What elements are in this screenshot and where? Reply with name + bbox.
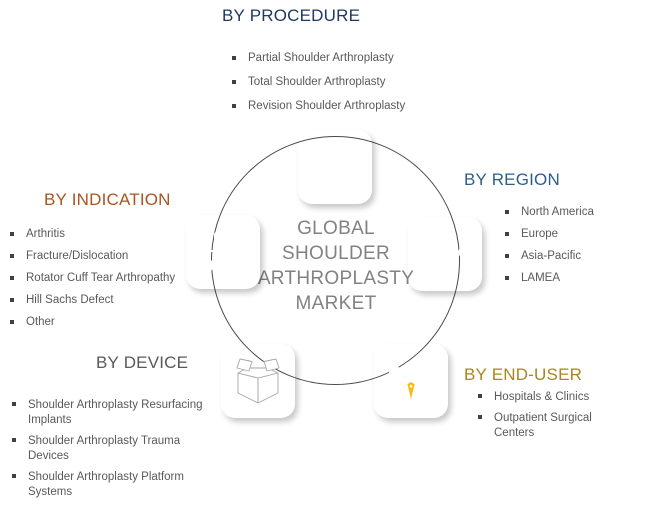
list-item: Fracture/Dislocation: [10, 250, 195, 263]
bullet-square-icon: [12, 474, 16, 478]
section-title-region: BY REGION: [464, 170, 560, 190]
list-item: Hill Sachs Defect: [10, 294, 195, 307]
list-item: Rotator Cuff Tear Arthropathy: [10, 272, 195, 285]
bullet-square-icon: [10, 320, 14, 324]
bullet-square-icon: [505, 232, 509, 236]
list-item: Outpatient Surgical Centers: [478, 411, 598, 441]
bullet-list-region: North AmericaEuropeAsia-PacificLAMEA: [505, 206, 640, 294]
list-item-label: North America: [521, 206, 594, 218]
bullet-square-icon: [505, 254, 509, 258]
list-item-label: Arthritis: [26, 228, 65, 240]
list-item-label: Hill Sachs Defect: [26, 294, 114, 306]
list-item: Revision Shoulder Arthroplasty: [232, 100, 442, 113]
market-segmentation-diagram: BY PROCEDURE Partial Shoulder Arthroplas…: [0, 0, 645, 517]
list-item: Partial Shoulder Arthroplasty: [232, 52, 442, 65]
list-item: Shoulder Arthroplasty Trauma Devices: [12, 434, 222, 464]
bullet-square-icon: [12, 438, 16, 442]
bullet-square-icon: [10, 276, 14, 280]
list-item-label: Asia-Pacific: [521, 250, 581, 262]
bullet-square-icon: [505, 210, 509, 214]
list-item-label: Rotator Cuff Tear Arthropathy: [26, 272, 175, 284]
list-item: LAMEA: [505, 272, 640, 285]
list-item-label: Hospitals & Clinics: [494, 391, 589, 403]
list-item-label: Other: [26, 316, 55, 328]
list-item-label: Total Shoulder Arthroplasty: [248, 76, 385, 88]
section-title-enduser: BY END-USER: [464, 365, 582, 385]
list-item: Asia-Pacific: [505, 250, 640, 263]
bullet-list-indication: ArthritisFracture/DislocationRotator Cuf…: [10, 228, 195, 338]
list-item: Total Shoulder Arthroplasty: [232, 76, 442, 89]
bullet-list-enduser: Hospitals & ClinicsOutpatient Surgical C…: [478, 390, 598, 447]
bullet-square-icon: [232, 80, 236, 84]
list-item-label: LAMEA: [521, 272, 560, 284]
section-title-device: BY DEVICE: [96, 353, 188, 373]
center-line-2: SHOULDER: [253, 241, 419, 266]
list-item-label: Europe: [521, 228, 558, 240]
open-box-icon[interactable]: [221, 344, 295, 418]
section-title-indication: BY INDICATION: [44, 190, 171, 210]
list-item: Europe: [505, 228, 640, 241]
list-item-label: Outpatient Surgical Centers: [494, 412, 592, 439]
list-item-label: Shoulder Arthroplasty Resurfacing Implan…: [28, 399, 203, 426]
list-item-label: Partial Shoulder Arthroplasty: [248, 52, 394, 64]
bullet-square-icon: [12, 402, 16, 406]
bullet-list-device: Shoulder Arthroplasty Resurfacing Implan…: [12, 398, 222, 506]
bullet-square-icon: [478, 415, 482, 419]
bullet-square-icon: [10, 298, 14, 302]
bullet-square-icon: [505, 276, 509, 280]
hierarchy-chart-icon[interactable]: [186, 215, 260, 289]
center-market-label: GLOBAL SHOULDER ARTHROPLASTY MARKET: [253, 216, 419, 316]
list-item-label: Revision Shoulder Arthroplasty: [248, 100, 405, 112]
people-group-icon[interactable]: [374, 344, 448, 418]
bullet-square-icon: [10, 254, 14, 258]
bullet-square-icon: [10, 232, 14, 236]
bullet-square-icon: [232, 104, 236, 108]
list-item: North America: [505, 206, 640, 219]
bullet-list-procedure: Partial Shoulder ArthroplastyTotal Shoul…: [232, 52, 442, 124]
bullet-square-icon: [478, 394, 482, 398]
center-line-4: MARKET: [253, 291, 419, 316]
list-item: Shoulder Arthroplasty Platform Systems: [12, 470, 222, 500]
list-item: Hospitals & Clinics: [478, 390, 598, 405]
globe-icon[interactable]: [408, 217, 482, 291]
list-item-label: Shoulder Arthroplasty Platform Systems: [28, 471, 184, 498]
center-line-3: ARTHROPLASTY: [253, 266, 419, 291]
section-title-procedure: BY PROCEDURE: [222, 6, 360, 26]
list-item-label: Fracture/Dislocation: [26, 250, 128, 262]
list-item: Arthritis: [10, 228, 195, 241]
center-line-1: GLOBAL: [253, 216, 419, 241]
list-item: Shoulder Arthroplasty Resurfacing Implan…: [12, 398, 222, 428]
list-item: Other: [10, 316, 195, 329]
surgical-procedure-icon[interactable]: [298, 130, 372, 204]
list-item-label: Shoulder Arthroplasty Trauma Devices: [28, 435, 180, 462]
bullet-square-icon: [232, 56, 236, 60]
